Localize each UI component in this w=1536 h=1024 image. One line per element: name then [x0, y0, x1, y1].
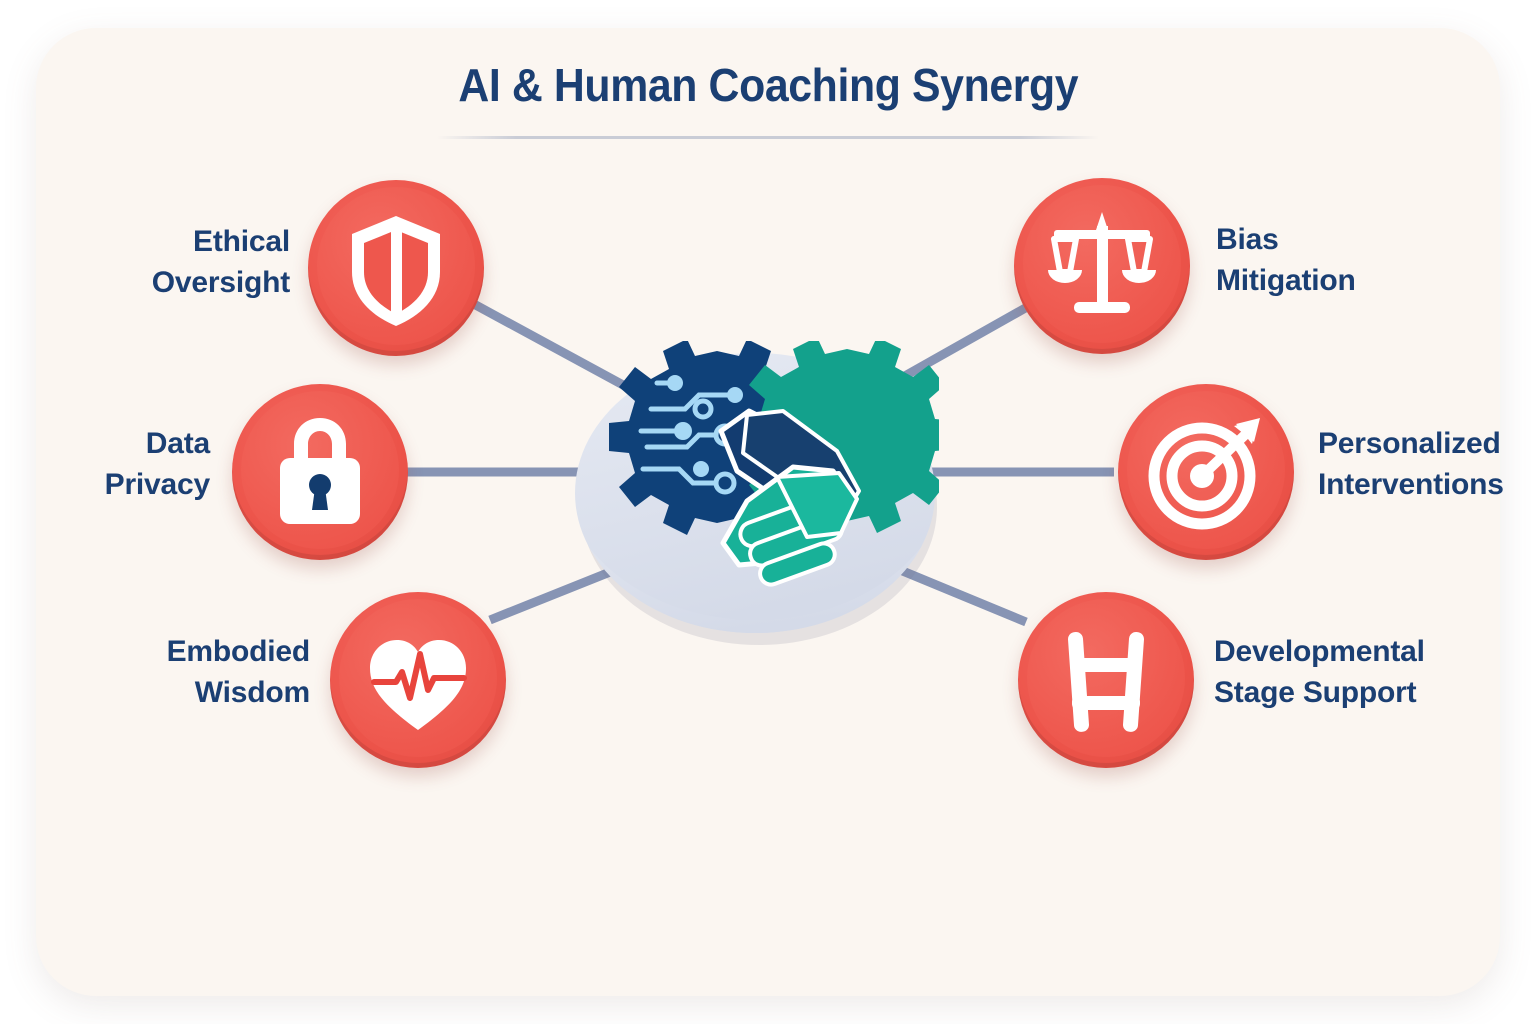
- shield-icon: [308, 180, 484, 356]
- node-label-developmental-stage-support: Developmental Stage Support: [1214, 632, 1514, 714]
- infographic-canvas: AI & Human Coaching Synergy: [0, 0, 1536, 1024]
- ladder-icon: [1018, 592, 1194, 768]
- central-hub: [571, 341, 939, 659]
- heart-pulse-icon: [330, 592, 506, 768]
- node-bias-mitigation[interactable]: [1014, 178, 1190, 354]
- node-label-data-privacy: Data Privacy: [20, 424, 210, 506]
- node-label-ethical-oversight: Ethical Oversight: [20, 222, 290, 304]
- node-developmental-stage-support[interactable]: [1018, 592, 1194, 768]
- node-ethical-oversight[interactable]: [308, 180, 484, 356]
- target-arrow-icon: [1118, 384, 1294, 560]
- lock-icon: [232, 384, 408, 560]
- node-data-privacy[interactable]: [232, 384, 408, 560]
- node-personalized-interventions[interactable]: [1118, 384, 1294, 560]
- node-label-embodied-wisdom: Embodied Wisdom: [20, 632, 310, 714]
- scales-icon: [1014, 178, 1190, 354]
- node-label-bias-mitigation: Bias Mitigation: [1216, 220, 1516, 302]
- node-embodied-wisdom[interactable]: [330, 592, 506, 768]
- node-label-personalized-interventions: Personalized Interventions: [1318, 424, 1536, 506]
